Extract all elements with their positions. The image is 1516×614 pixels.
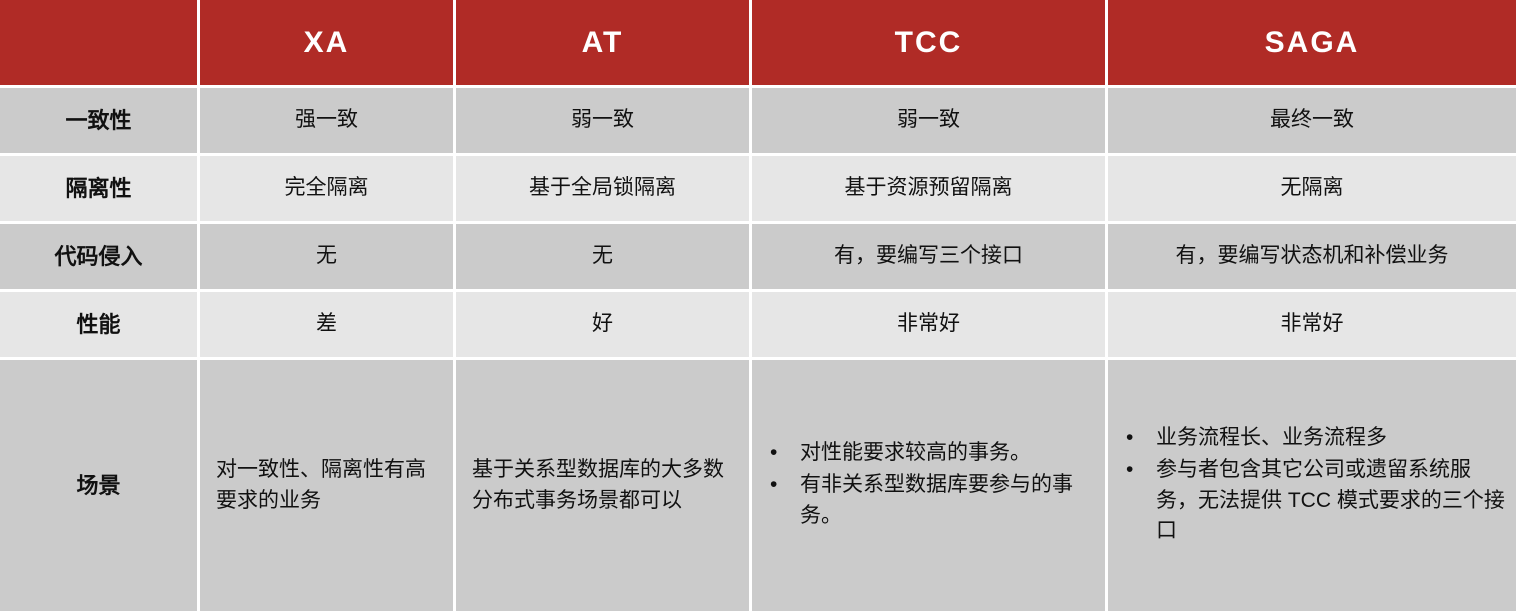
cell-code-intrusion-at: 无 — [456, 224, 752, 289]
table-row-code-intrusion: 代码侵入 无 无 有，要编写三个接口 有，要编写状态机和补偿业务 — [0, 224, 1516, 292]
table-row-isolation: 隔离性 完全隔离 基于全局锁隔离 基于资源预留隔离 无隔离 — [0, 156, 1516, 224]
table-row-consistency: 一致性 强一致 弱一致 弱一致 最终一致 — [0, 88, 1516, 156]
scenario-xa-text: 对一致性、隔离性有高要求的业务 — [216, 455, 443, 516]
cell-isolation-at: 基于全局锁隔离 — [456, 156, 752, 221]
cell-performance-at: 好 — [456, 292, 752, 357]
cell-isolation-saga: 无隔离 — [1108, 156, 1516, 221]
list-item: 参与者包含其它公司或遗留系统服务，无法提供 TCC 模式要求的三个接口 — [1118, 455, 1510, 546]
header-corner-cell — [0, 0, 200, 85]
row-label-consistency: 一致性 — [0, 88, 200, 153]
scenario-tcc-bullet-list: 对性能要求较高的事务。 有非关系型数据库要参与的事务。 — [762, 438, 1099, 533]
list-item: 有非关系型数据库要参与的事务。 — [762, 470, 1099, 531]
row-label-performance: 性能 — [0, 292, 200, 357]
scenario-at-text: 基于关系型数据库的大多数分布式事务场景都可以 — [472, 455, 739, 516]
header-cell-xa: XA — [200, 0, 456, 85]
header-cell-at: AT — [456, 0, 752, 85]
table-header-row: XA AT TCC SAGA — [0, 0, 1516, 88]
cell-consistency-tcc: 弱一致 — [752, 88, 1108, 153]
header-cell-tcc: TCC — [752, 0, 1108, 85]
cell-consistency-at: 弱一致 — [456, 88, 752, 153]
cell-code-intrusion-xa: 无 — [200, 224, 456, 289]
list-item: 对性能要求较高的事务。 — [762, 438, 1099, 468]
cell-performance-saga: 非常好 — [1108, 292, 1516, 357]
cell-scenario-saga: 业务流程长、业务流程多 参与者包含其它公司或遗留系统服务，无法提供 TCC 模式… — [1108, 360, 1516, 611]
table-row-performance: 性能 差 好 非常好 非常好 — [0, 292, 1516, 360]
row-label-isolation: 隔离性 — [0, 156, 200, 221]
row-label-code-intrusion: 代码侵入 — [0, 224, 200, 289]
cell-isolation-xa: 完全隔离 — [200, 156, 456, 221]
row-label-scenario: 场景 — [0, 360, 200, 611]
cell-code-intrusion-tcc: 有，要编写三个接口 — [752, 224, 1108, 289]
cell-performance-tcc: 非常好 — [752, 292, 1108, 357]
cell-scenario-xa: 对一致性、隔离性有高要求的业务 — [200, 360, 456, 611]
cell-performance-xa: 差 — [200, 292, 456, 357]
table-row-scenario: 场景 对一致性、隔离性有高要求的业务 基于关系型数据库的大多数分布式事务场景都可… — [0, 360, 1516, 611]
cell-code-intrusion-saga: 有，要编写状态机和补偿业务 — [1108, 224, 1516, 289]
scenario-saga-bullet-list: 业务流程长、业务流程多 参与者包含其它公司或遗留系统服务，无法提供 TCC 模式… — [1118, 423, 1510, 549]
header-cell-saga: SAGA — [1108, 0, 1516, 85]
comparison-table: XA AT TCC SAGA 一致性 强一致 弱一致 弱一致 最终一致 隔离性 … — [0, 0, 1516, 614]
cell-consistency-xa: 强一致 — [200, 88, 456, 153]
cell-isolation-tcc: 基于资源预留隔离 — [752, 156, 1108, 221]
cell-scenario-tcc: 对性能要求较高的事务。 有非关系型数据库要参与的事务。 — [752, 360, 1108, 611]
cell-consistency-saga: 最终一致 — [1108, 88, 1516, 153]
cell-scenario-at: 基于关系型数据库的大多数分布式事务场景都可以 — [456, 360, 752, 611]
list-item: 业务流程长、业务流程多 — [1118, 423, 1510, 453]
